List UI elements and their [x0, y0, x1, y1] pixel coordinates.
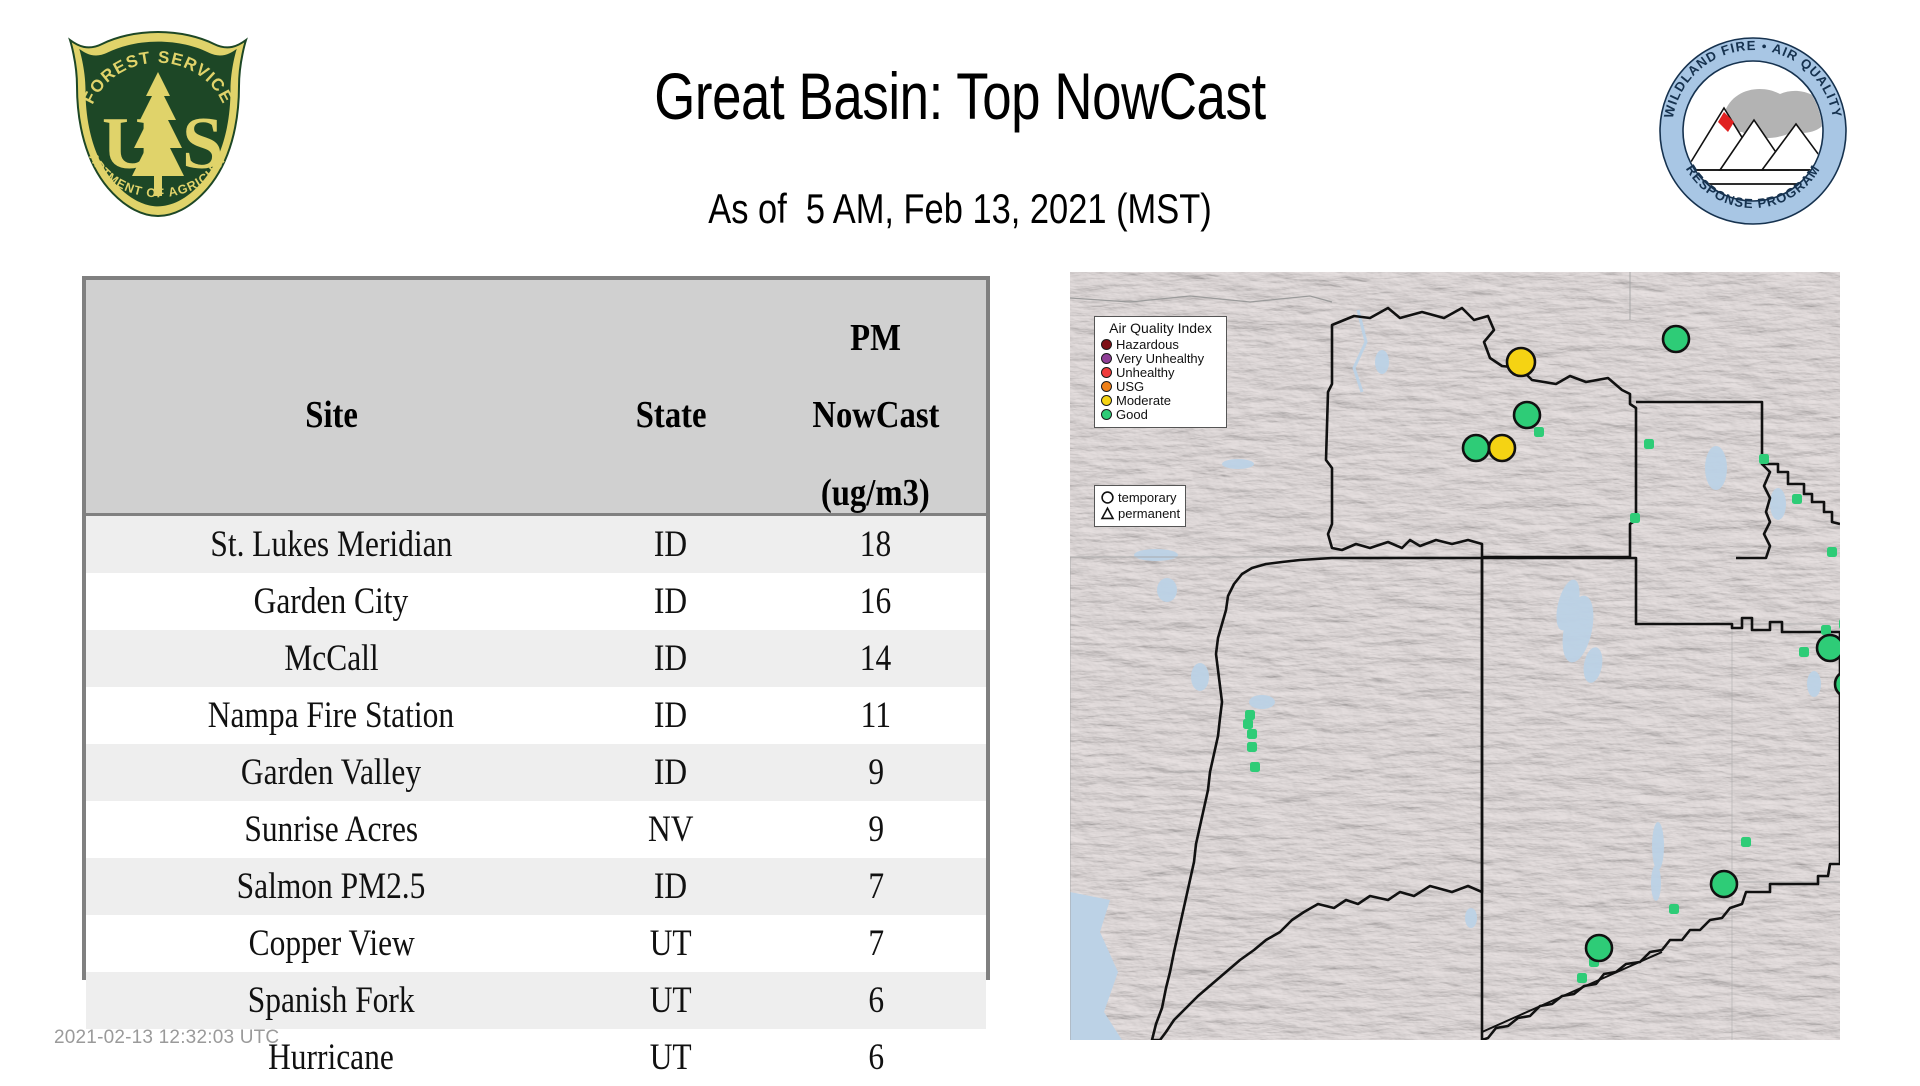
legend-label-temporary: temporary [1118, 491, 1177, 504]
permanent-monitor-marker[interactable] [1247, 742, 1257, 752]
table-header-row: Site State PM NowCast (ug/m3) [86, 280, 986, 514]
temporary-monitor-marker[interactable] [1507, 348, 1535, 376]
permanent-monitor-marker[interactable] [1669, 904, 1679, 914]
aqi-legend-item: Moderate [1101, 394, 1220, 407]
aqi-legend-item: Good [1101, 408, 1220, 421]
cell-pm-nowcast-text: 6 [868, 979, 884, 1022]
aqi-legend-label: Very Unhealthy [1116, 352, 1204, 365]
permanent-monitor-marker[interactable] [1759, 454, 1769, 464]
aqi-legend-item: USG [1101, 380, 1220, 393]
permanent-monitor-marker[interactable] [1644, 439, 1654, 449]
cell-site-text: Nampa Fire Station [208, 694, 454, 737]
cell-pm-nowcast: 9 [766, 801, 987, 858]
cell-site: Salmon PM2.5 [86, 858, 577, 915]
permanent-monitor-marker[interactable] [1243, 719, 1253, 729]
cell-site-text: Copper View [248, 922, 414, 965]
aqi-legend-item: Hazardous [1101, 338, 1220, 351]
column-header-pm-line2: NowCast [812, 396, 939, 435]
cell-state: UT [577, 1029, 766, 1086]
table-row: Sunrise AcresNV9 [86, 801, 986, 858]
cell-pm-nowcast: 6 [766, 972, 987, 1029]
temporary-monitor-marker[interactable] [1463, 435, 1489, 461]
column-header-pm-line3: (ug/m3) [821, 474, 930, 513]
permanent-monitor-marker[interactable] [1821, 625, 1831, 635]
permanent-monitor-marker[interactable] [1534, 427, 1544, 437]
cell-site-text: Sunrise Acres [244, 808, 418, 851]
table-row: Salmon PM2.5ID7 [86, 858, 986, 915]
table-row: Copper ViewUT7 [86, 915, 986, 972]
cell-state-text: UT [650, 1036, 692, 1079]
aqi-legend-title: Air Quality Index [1101, 321, 1220, 336]
cell-state: UT [577, 972, 766, 1029]
cell-site: Garden City [86, 573, 577, 630]
station-type-legend: temporary permanent [1094, 485, 1186, 527]
cell-site-text: Hurricane [268, 1036, 394, 1079]
nowcast-table-container: Site State PM NowCast (ug/m3) St. Lukes … [82, 276, 990, 980]
air-quality-map[interactable]: Air Quality Index HazardousVery Unhealth… [1070, 272, 1840, 1040]
column-header-state: State [577, 280, 766, 514]
page-title: Great Basin: Top NowCast [192, 58, 1728, 134]
permanent-monitor-marker[interactable] [1630, 513, 1640, 523]
cell-site: Copper View [86, 915, 577, 972]
cell-site-text: Salmon PM2.5 [237, 865, 426, 908]
table-row: Nampa Fire StationID11 [86, 687, 986, 744]
cell-pm-nowcast: 14 [766, 630, 987, 687]
cell-site-text: Garden City [254, 580, 409, 623]
aqi-legend-rows: HazardousVery UnhealthyUnhealthyUSGModer… [1101, 338, 1220, 421]
cell-state-text: ID [654, 751, 687, 794]
cell-pm-nowcast: 16 [766, 573, 987, 630]
table-body: St. Lukes MeridianID18Garden CityID16McC… [86, 514, 986, 1086]
legend-row-temporary: temporary [1100, 490, 1180, 505]
cell-state-text: ID [654, 637, 687, 680]
aqi-swatch-icon [1101, 339, 1112, 350]
aqi-legend-label: Unhealthy [1116, 366, 1175, 379]
cell-pm-nowcast-text: 9 [868, 751, 884, 794]
cell-state-text: ID [654, 865, 687, 908]
permanent-monitor-marker[interactable] [1577, 973, 1587, 983]
cell-pm-nowcast-text: 16 [860, 580, 891, 623]
cell-site-text: Spanish Fork [248, 979, 415, 1022]
cell-pm-nowcast-text: 11 [861, 694, 891, 737]
cell-state: ID [577, 744, 766, 801]
table-header: Site State PM NowCast (ug/m3) [86, 280, 986, 514]
aqi-legend-label: Moderate [1116, 394, 1171, 407]
temporary-monitor-marker[interactable] [1663, 326, 1689, 352]
temporary-circle-icon [1100, 490, 1115, 505]
cell-site: Spanish Fork [86, 972, 577, 1029]
cell-state-text: ID [654, 580, 687, 623]
legend-label-permanent: permanent [1118, 507, 1180, 520]
aqi-swatch-icon [1101, 409, 1112, 420]
column-header-state-label: State [636, 396, 707, 435]
cell-pm-nowcast: 7 [766, 915, 987, 972]
cell-pm-nowcast: 11 [766, 687, 987, 744]
nowcast-table: Site State PM NowCast (ug/m3) St. Lukes … [86, 280, 986, 1086]
cell-state-text: ID [654, 694, 687, 737]
cell-state: UT [577, 915, 766, 972]
aqi-legend-label: Good [1116, 408, 1148, 421]
cell-site: Nampa Fire Station [86, 687, 577, 744]
temporary-monitor-marker[interactable] [1514, 402, 1540, 428]
cell-pm-nowcast-text: 14 [860, 637, 891, 680]
aqi-legend-item: Very Unhealthy [1101, 352, 1220, 365]
cell-site-text: McCall [284, 637, 378, 680]
column-header-site-label: Site [305, 396, 358, 435]
cell-site: McCall [86, 630, 577, 687]
cell-pm-nowcast: 7 [766, 858, 987, 915]
air-quality-index-legend: Air Quality Index HazardousVery Unhealth… [1094, 316, 1227, 428]
cell-state-text: UT [650, 922, 692, 965]
permanent-monitor-marker[interactable] [1741, 837, 1751, 847]
aqi-legend-label: USG [1116, 380, 1144, 393]
table-row: McCallID14 [86, 630, 986, 687]
permanent-triangle-icon [1100, 506, 1115, 521]
cell-state: ID [577, 630, 766, 687]
cell-site: Garden Valley [86, 744, 577, 801]
permanent-monitor-marker[interactable] [1792, 494, 1802, 504]
aqi-swatch-icon [1101, 353, 1112, 364]
temporary-monitor-marker[interactable] [1586, 935, 1612, 961]
temporary-monitor-marker[interactable] [1817, 635, 1840, 661]
temporary-monitor-marker[interactable] [1711, 871, 1737, 897]
cell-site: Sunrise Acres [86, 801, 577, 858]
cell-pm-nowcast: 6 [766, 1029, 987, 1086]
table-row: Spanish ForkUT6 [86, 972, 986, 1029]
permanent-monitor-marker[interactable] [1799, 647, 1809, 657]
cell-site-text: Garden Valley [241, 751, 421, 794]
page-subtitle-timestamp: As of 5 AM, Feb 13, 2021 (MST) [173, 185, 1747, 233]
cell-state-text: ID [654, 523, 687, 566]
aqi-swatch-icon [1101, 381, 1112, 392]
cell-site-text: St. Lukes Meridian [210, 523, 452, 566]
cell-state: ID [577, 573, 766, 630]
permanent-monitor-marker[interactable] [1250, 762, 1260, 772]
cell-pm-nowcast-text: 9 [868, 808, 884, 851]
cell-state: ID [577, 514, 766, 573]
column-header-site: Site [86, 280, 577, 514]
cell-pm-nowcast-text: 7 [868, 865, 884, 908]
permanent-monitor-marker[interactable] [1827, 547, 1837, 557]
cell-state-text: UT [650, 979, 692, 1022]
legend-row-permanent: permanent [1100, 506, 1180, 521]
column-header-pm-line1: PM [850, 319, 901, 358]
cell-site: St. Lukes Meridian [86, 514, 577, 573]
permanent-monitor-marker[interactable] [1247, 729, 1257, 739]
temporary-monitor-marker[interactable] [1489, 435, 1515, 461]
column-header-pm-nowcast: PM NowCast (ug/m3) [766, 280, 987, 514]
cell-pm-nowcast-text: 7 [868, 922, 884, 965]
permanent-monitor-marker[interactable] [1245, 710, 1255, 720]
table-row: St. Lukes MeridianID18 [86, 514, 986, 573]
aqi-legend-label: Hazardous [1116, 338, 1179, 351]
cell-state-text: NV [648, 808, 693, 851]
table-row: Garden ValleyID9 [86, 744, 986, 801]
cell-state: ID [577, 858, 766, 915]
generated-timestamp: 2021-02-13 12:32:03 UTC [54, 1027, 279, 1049]
table-row: Garden CityID16 [86, 573, 986, 630]
cell-pm-nowcast: 9 [766, 744, 987, 801]
cell-pm-nowcast: 18 [766, 514, 987, 573]
cell-pm-nowcast-text: 6 [868, 1036, 884, 1079]
aqi-swatch-icon [1101, 367, 1112, 378]
cell-state: NV [577, 801, 766, 858]
aqi-swatch-icon [1101, 395, 1112, 406]
cell-state: ID [577, 687, 766, 744]
aqi-legend-item: Unhealthy [1101, 366, 1220, 379]
cell-pm-nowcast-text: 18 [860, 523, 891, 566]
